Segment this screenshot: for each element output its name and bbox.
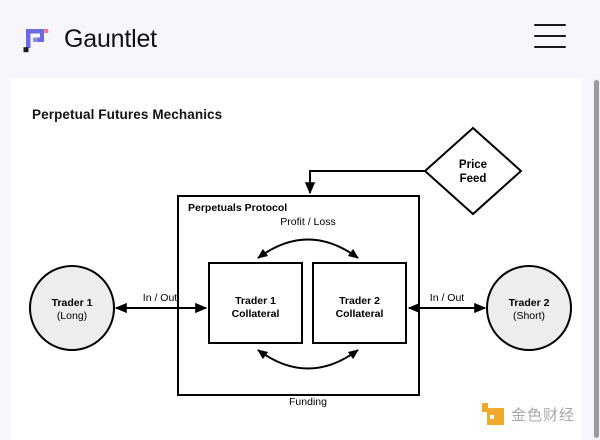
hamburger-line-3 — [534, 46, 566, 48]
funding-label: Funding — [289, 396, 327, 408]
right-in-out-label: In / Out — [430, 292, 465, 304]
node-price-feed: Price Feed — [425, 128, 521, 214]
node-trader1-collateral: Trader 1 Collateral — [209, 263, 302, 343]
collateral1-label-line1: Trader 1 — [235, 295, 276, 307]
hamburger-line-2 — [534, 35, 566, 37]
node-trader2: Trader 2 (Short) — [487, 266, 571, 350]
price-feed-label-line2: Feed — [460, 173, 487, 185]
trader2-label-line1: Trader 2 — [509, 297, 550, 309]
trader1-label-line1: Trader 1 — [52, 297, 93, 309]
edge-price-feed-to-protocol — [310, 171, 425, 193]
app-header: Gauntlet — [0, 0, 600, 78]
profit-loss-label: Profit / Loss — [280, 216, 335, 228]
vertical-scrollbar-thumb[interactable] — [594, 80, 599, 438]
gauntlet-g-logo-icon — [20, 24, 50, 54]
edge-right-in-out: In / Out — [409, 292, 485, 308]
price-feed-label-line1: Price — [459, 159, 487, 171]
brand-name: Gauntlet — [64, 25, 157, 54]
trader2-label-line2: (Short) — [513, 310, 545, 322]
brand[interactable]: Gauntlet — [20, 24, 157, 54]
node-trader1: Trader 1 (Long) — [30, 266, 114, 350]
watermark: 金色财经 — [482, 403, 575, 425]
protocol-label: Perpetuals Protocol — [188, 202, 287, 214]
collateral2-label-line2: Collateral — [336, 308, 384, 320]
jinse-logo-tick — [482, 403, 488, 412]
content-card: Perpetual Futures Mechanics Price Feed — [10, 78, 582, 440]
jinse-logo-icon — [482, 403, 504, 425]
hamburger-line-1 — [534, 24, 566, 26]
collateral1-label-line2: Collateral — [232, 308, 280, 320]
hamburger-menu-icon[interactable] — [534, 24, 566, 48]
jinse-logo-dot — [490, 415, 494, 419]
perpetual-futures-diagram: Price Feed Perpetuals Protocol Trader 1 … — [10, 78, 582, 440]
watermark-text: 金色财经 — [511, 404, 575, 425]
collateral2-label-line1: Trader 2 — [339, 295, 380, 307]
trader1-label-line2: (Long) — [57, 310, 87, 322]
node-trader2-collateral: Trader 2 Collateral — [313, 263, 406, 343]
left-in-out-label: In / Out — [143, 292, 178, 304]
